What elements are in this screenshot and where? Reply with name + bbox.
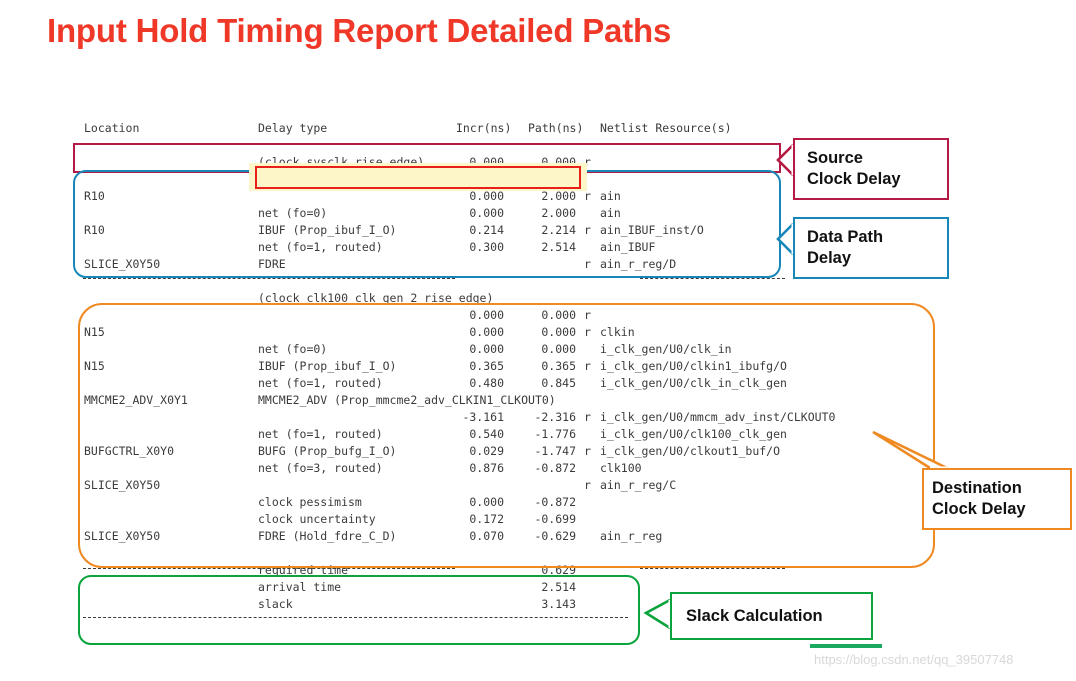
dashed-rule-datapath-right [640,278,785,279]
callout-tails [0,0,1076,681]
callout-data-path-delay-line1: Data Path [807,227,947,248]
callout-destination-clock-delay: Destination Clock Delay [922,468,1072,530]
callout-slack-calculation: Slack Calculation [670,592,873,640]
callout-data-path-delay-line2: Delay [807,248,947,269]
watermark-bar [810,644,882,648]
callout-destination-clock-delay-line1: Destination [932,478,1070,499]
dashed-rule-datapath-left [83,278,455,279]
callout-data-path-delay: Data Path Delay [793,217,949,279]
callout-slack-calculation-line1: Slack Calculation [686,606,871,627]
dashed-rule-destclock-left [83,568,455,569]
callout-source-clock-delay-line2: Clock Delay [807,169,947,190]
callout-source-clock-delay-line1: Source [807,148,947,169]
callout-source-clock-delay: Source Clock Delay [793,138,949,200]
watermark-text: https://blog.csdn.net/qq_39507748 [814,652,1014,667]
dashed-rule-slack [83,617,628,618]
dashed-rule-destclock-right [640,568,785,569]
callout-destination-clock-delay-line2: Clock Delay [932,499,1070,520]
